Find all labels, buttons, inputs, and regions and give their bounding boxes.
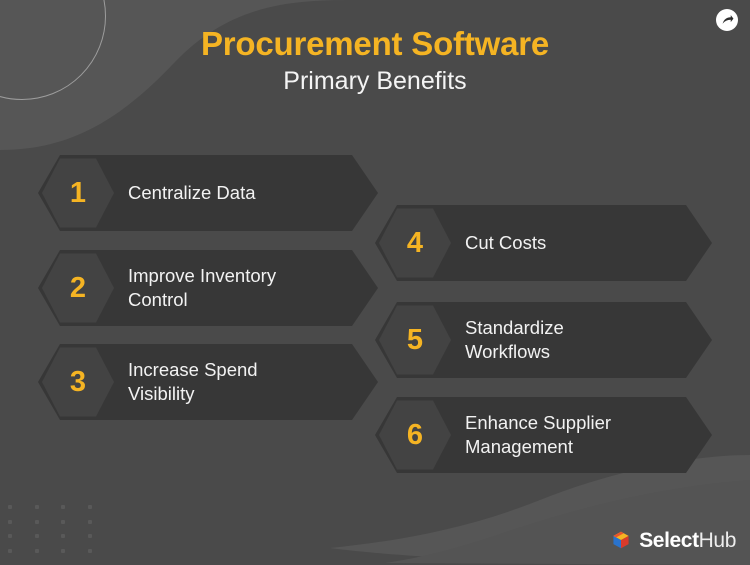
benefit-label: Enhance Supplier Management — [465, 411, 645, 458]
logo-name-bold: Select — [639, 529, 698, 552]
logo-name-light: Hub — [699, 529, 736, 552]
benefit-label: Centralize Data — [128, 181, 290, 205]
benefit-number: 6 — [407, 421, 423, 450]
page-title: Procurement Software — [0, 26, 750, 62]
benefit-label: Improve Inventory Control — [128, 264, 310, 311]
dot-grid-decoration — [8, 505, 114, 563]
selecthub-logo[interactable]: SelectHub — [610, 529, 736, 551]
benefit-number: 4 — [407, 229, 423, 258]
benefit-number: 1 — [70, 179, 86, 208]
benefit-item-3[interactable]: 3 Increase Spend Visibility — [38, 344, 378, 420]
swoosh-bottom-right-curve-2 — [385, 480, 750, 565]
benefit-label: Standardize Workflows — [465, 316, 598, 363]
benefit-number: 3 — [70, 368, 86, 397]
infographic-slide: Procurement Software Primary Benefits 1 … — [0, 0, 750, 565]
benefit-number: 5 — [407, 326, 423, 355]
selecthub-cube-icon — [610, 529, 632, 551]
share-arrow-icon — [721, 14, 734, 27]
benefit-label: Cut Costs — [465, 231, 580, 255]
selecthub-wordmark: SelectHub — [639, 530, 736, 551]
benefit-item-6[interactable]: 6 Enhance Supplier Management — [375, 397, 712, 473]
benefit-item-4[interactable]: 4 Cut Costs — [375, 205, 712, 281]
benefit-item-5[interactable]: 5 Standardize Workflows — [375, 302, 712, 378]
benefit-item-2[interactable]: 2 Improve Inventory Control — [38, 250, 378, 326]
benefit-number: 2 — [70, 274, 86, 303]
benefit-item-1[interactable]: 1 Centralize Data — [38, 155, 378, 231]
header: Procurement Software Primary Benefits — [0, 26, 750, 97]
benefit-label: Increase Spend Visibility — [128, 358, 292, 405]
page-subtitle: Primary Benefits — [0, 66, 750, 97]
